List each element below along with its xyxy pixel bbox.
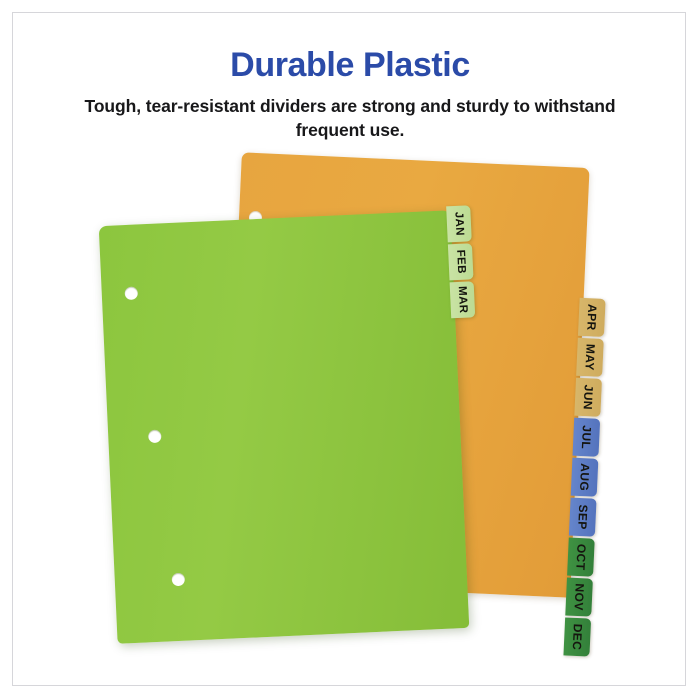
green-divider: JAN FEB MAR [99,210,470,644]
tab-label-sep: SEP [575,504,590,530]
text-block: Durable Plastic Tough, tear-resistant di… [0,46,700,142]
tab-label-may: MAY [582,344,597,371]
tab-nov[interactable]: NOV [565,578,593,617]
headline: Durable Plastic [0,46,700,84]
tab-label-jan: JAN [452,211,465,236]
green-divider-sheet [99,210,470,644]
tab-label-feb: FEB [454,249,467,274]
tab-label-jun: JUN [581,384,596,410]
tab-may[interactable]: MAY [576,338,604,377]
tab-label-dec: DEC [570,623,585,650]
tab-label-jul: JUL [579,425,594,449]
tab-label-oct: OCT [573,544,588,571]
tab-apr[interactable]: APR [578,298,606,337]
tab-label-mar: MAR [456,286,469,314]
tab-label-apr: APR [584,304,599,331]
product-feature-image: Durable Plastic Tough, tear-resistant di… [0,0,700,700]
tab-label-aug: AUG [577,463,592,491]
tab-mar[interactable]: MAR [450,281,476,318]
tab-oct[interactable]: OCT [567,538,595,577]
tab-label-nov: NOV [571,583,586,611]
tab-jan[interactable]: JAN [446,205,472,242]
tab-dec[interactable]: DEC [563,617,591,656]
subheadline: Tough, tear-resistant dividers are stron… [70,94,630,142]
tab-feb[interactable]: FEB [448,243,474,280]
tab-jul[interactable]: JUL [573,418,601,457]
tab-sep[interactable]: SEP [569,498,597,537]
tab-jun[interactable]: JUN [574,378,602,417]
tab-aug[interactable]: AUG [571,458,599,497]
